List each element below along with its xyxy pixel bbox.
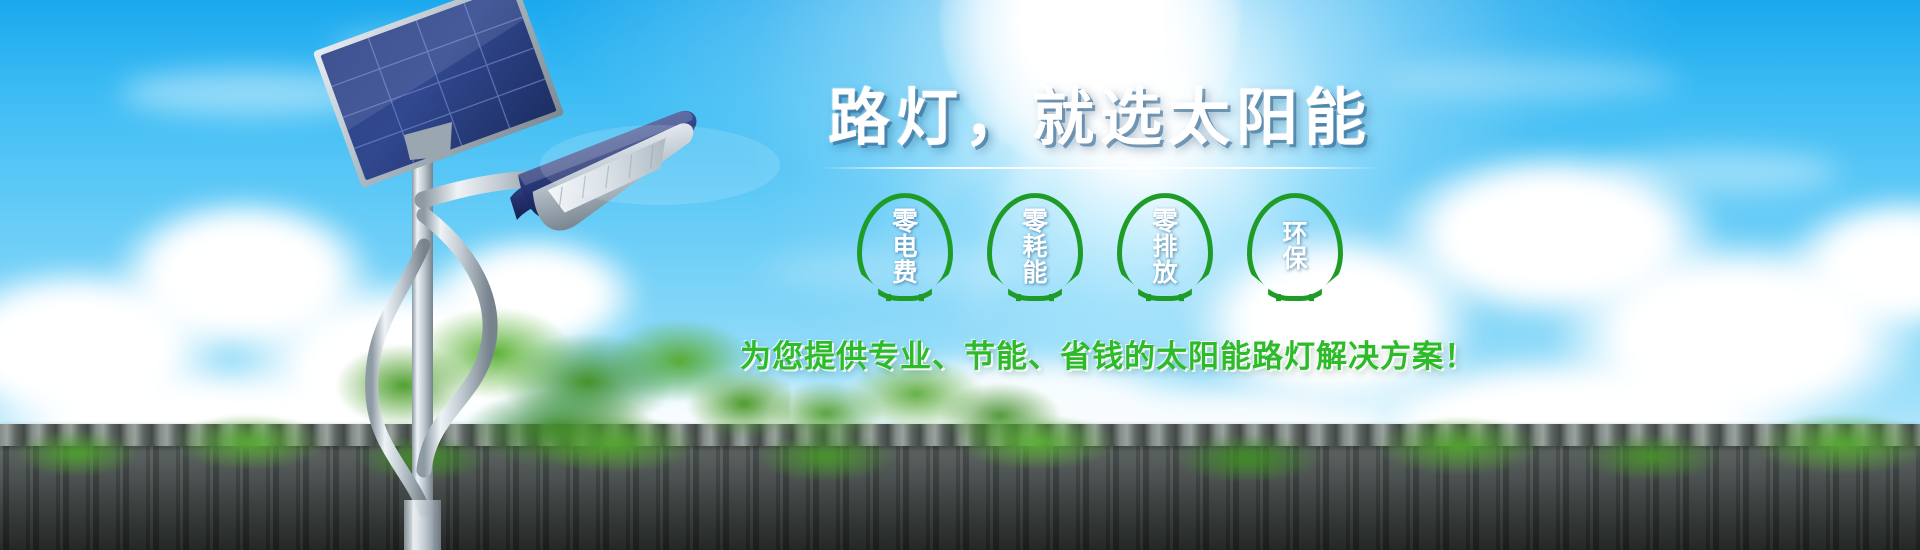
badge-mid-label: 环	[1282, 222, 1307, 248]
feature-badge-list: 零 电 费 零 耗 能 零 排 放 环 保	[740, 193, 1460, 301]
badge-eco-friendly: 环 保	[1247, 193, 1343, 301]
badge-top-label: 零	[892, 208, 918, 235]
badge-top-label: 零	[1152, 208, 1178, 235]
badge-bottom-label: 费	[892, 261, 917, 287]
badge-zero-electricity-cost: 零 电 费	[857, 193, 953, 301]
cloud-wisp	[120, 70, 380, 116]
divider	[820, 167, 1380, 169]
copy-block: 路灯，就选太阳能 零 电 费 零 耗 能 零 排 放	[740, 86, 1460, 376]
cloud-wisp	[330, 30, 530, 64]
badge-mid-label: 排	[1152, 235, 1177, 261]
badge-zero-emission: 零 排 放	[1117, 193, 1213, 301]
badge-mid-label: 电	[892, 235, 917, 261]
badge-bottom-label: 保	[1282, 247, 1307, 273]
green-hedge	[0, 390, 1920, 480]
badge-top-label: 零	[1022, 208, 1048, 235]
cloud-wisp	[1600, 150, 1840, 194]
solar-street-lamp-banner: 路灯，就选太阳能 零 电 费 零 耗 能 零 排 放	[0, 0, 1920, 550]
badge-mid-label: 耗	[1022, 235, 1047, 261]
badge-bottom-label: 放	[1152, 261, 1177, 287]
page-title: 路灯，就选太阳能	[740, 86, 1460, 151]
badge-bottom-label: 能	[1022, 261, 1047, 287]
badge-zero-energy-use: 零 耗 能	[987, 193, 1083, 301]
tagline: 为您提供专业、节能、省钱的太阳能路灯解决方案！	[740, 331, 1460, 376]
